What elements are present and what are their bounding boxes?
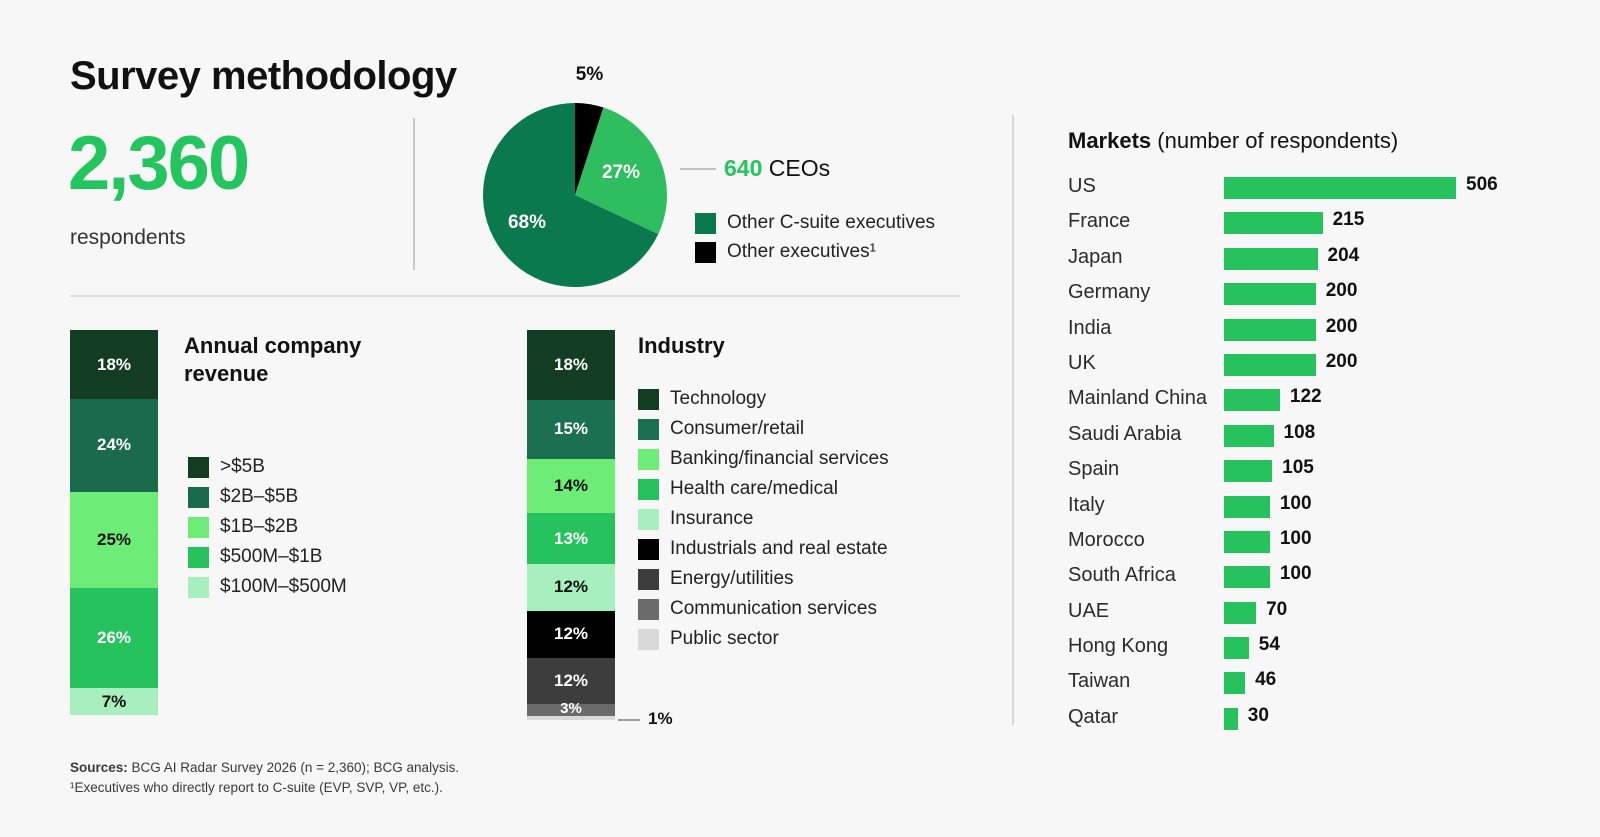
legend-item: Technology [638, 388, 889, 410]
market-bar [1224, 460, 1272, 482]
ceo-callout-value: 640 [724, 155, 762, 181]
market-value: 200 [1326, 316, 1358, 338]
market-name: Mainland China [1068, 387, 1207, 410]
revenue-title: Annual company revenue [184, 332, 404, 387]
industry-legend: TechnologyConsumer/retailBanking/financi… [638, 388, 889, 658]
market-row: Morocco100 [1068, 526, 1568, 561]
market-name: India [1068, 317, 1111, 340]
market-value: 46 [1255, 669, 1276, 691]
market-bar [1224, 354, 1316, 376]
legend-label: Health care/medical [670, 478, 838, 500]
pie-legend-item: Other executives¹ [695, 241, 935, 263]
sources-label: Sources: [70, 760, 128, 775]
markets-title-rest: (number of respondents) [1151, 128, 1398, 153]
legend-swatch-icon [638, 629, 659, 650]
stack-segment-label: 15% [554, 419, 588, 439]
respondent-count-label: respondents [70, 226, 186, 250]
markets-title-bold: Markets [1068, 128, 1151, 153]
pie-slice-label-2: 68% [508, 212, 546, 234]
market-row: Japan204 [1068, 243, 1568, 278]
market-bar [1224, 212, 1323, 234]
market-value: 100 [1280, 563, 1312, 585]
market-name: Qatar [1068, 706, 1118, 729]
pie-legend-label: Other executives¹ [727, 241, 876, 263]
market-row: Spain105 [1068, 455, 1568, 490]
market-bar [1224, 672, 1245, 694]
revenue-stacked-bar: 18%24%25%26%7% [70, 330, 158, 715]
market-name: Italy [1068, 494, 1105, 517]
respondent-count: 2,360 [68, 126, 248, 202]
ceo-callout-line [680, 168, 716, 170]
pie-legend: Other C-suite executivesOther executives… [695, 212, 935, 270]
market-row: France215 [1068, 207, 1568, 242]
market-value: 506 [1466, 174, 1498, 196]
market-row: Qatar30 [1068, 703, 1568, 738]
legend-label: Industrials and real estate [670, 538, 888, 560]
sources-line: Sources: BCG AI Radar Survey 2026 (n = 2… [70, 758, 459, 778]
legend-item: $500M–$1B [188, 546, 347, 568]
stack-segment-label: 24% [97, 435, 131, 455]
stack-segment-label: 18% [97, 355, 131, 375]
legend-label: Consumer/retail [670, 418, 804, 440]
legend-swatch-icon [638, 569, 659, 590]
legend-item: Banking/financial services [638, 448, 889, 470]
infographic-page: Survey methodology 2,360 respondents 5%2… [0, 0, 1600, 837]
divider-horizontal [70, 295, 960, 297]
market-bar [1224, 425, 1274, 447]
legend-label: $500M–$1B [220, 546, 322, 568]
market-value: 122 [1290, 386, 1322, 408]
market-value: 200 [1326, 351, 1358, 373]
public-sector-callout-line [618, 719, 640, 721]
market-name: Hong Kong [1068, 635, 1168, 658]
market-value: 215 [1333, 209, 1365, 231]
legend-item: Industrials and real estate [638, 538, 889, 560]
market-row: UAE70 [1068, 597, 1568, 632]
stack-segment: 14% [527, 459, 615, 514]
sources-text: BCG AI Radar Survey 2026 (n = 2,360); BC… [128, 760, 459, 775]
market-name: US [1068, 175, 1096, 198]
market-bar [1224, 248, 1318, 270]
market-value: 100 [1280, 528, 1312, 550]
stack-segment-label: 12% [554, 624, 588, 644]
legend-label: Banking/financial services [670, 448, 889, 470]
stack-segment: 3% [527, 704, 615, 716]
ceo-callout-label: CEOs [762, 155, 830, 181]
market-name: Taiwan [1068, 670, 1130, 693]
legend-item: Energy/utilities [638, 568, 889, 590]
legend-label: Insurance [670, 508, 753, 530]
stack-segment: 18% [527, 330, 615, 400]
revenue-title-line2: revenue [184, 361, 268, 386]
market-value: 204 [1328, 245, 1360, 267]
legend-label: $1B–$2B [220, 516, 298, 538]
legend-swatch-icon [695, 242, 716, 263]
market-value: 200 [1326, 280, 1358, 302]
market-name: Germany [1068, 281, 1150, 304]
market-bar [1224, 283, 1316, 305]
market-bar [1224, 637, 1249, 659]
legend-label: $100M–$500M [220, 576, 347, 598]
market-name: Saudi Arabia [1068, 423, 1181, 446]
legend-item: $1B–$2B [188, 516, 347, 538]
market-name: Morocco [1068, 529, 1145, 552]
legend-item: Health care/medical [638, 478, 889, 500]
market-row: Germany200 [1068, 278, 1568, 313]
footnote-1: ¹Executives who directly report to C-sui… [70, 778, 459, 798]
stack-segment: 12% [527, 611, 615, 658]
pie-slice-label-0: 5% [576, 64, 603, 86]
stack-segment-label: 25% [97, 530, 131, 550]
market-bar [1224, 319, 1316, 341]
legend-swatch-icon [188, 547, 209, 568]
market-value: 108 [1284, 422, 1316, 444]
stack-segment: 18% [70, 330, 158, 399]
market-value: 70 [1266, 599, 1287, 621]
legend-item: Public sector [638, 628, 889, 650]
stack-segment-label: 3% [560, 700, 582, 717]
legend-item: Communication services [638, 598, 889, 620]
legend-item: Consumer/retail [638, 418, 889, 440]
stack-segment: 26% [70, 588, 158, 688]
stack-segment-label: 18% [554, 355, 588, 375]
market-bar [1224, 708, 1238, 730]
market-value: 100 [1280, 493, 1312, 515]
market-name: Spain [1068, 458, 1119, 481]
market-row: South Africa100 [1068, 561, 1568, 596]
revenue-title-line1: Annual company [184, 333, 361, 358]
legend-swatch-icon [188, 577, 209, 598]
market-value: 30 [1248, 705, 1269, 727]
market-row: Hong Kong54 [1068, 632, 1568, 667]
legend-item: Insurance [638, 508, 889, 530]
legend-swatch-icon [695, 213, 716, 234]
legend-swatch-icon [188, 487, 209, 508]
pie-svg [483, 103, 667, 287]
market-name: Japan [1068, 246, 1123, 269]
stack-segment-label: 7% [102, 692, 127, 712]
divider-vertical-left [413, 118, 415, 270]
sources-footnote: Sources: BCG AI Radar Survey 2026 (n = 2… [70, 758, 459, 799]
industry-stacked-bar: 18%15%14%13%12%12%12%3% [527, 330, 615, 720]
legend-label: Energy/utilities [670, 568, 794, 590]
market-value: 54 [1259, 634, 1280, 656]
market-bar [1224, 496, 1270, 518]
legend-swatch-icon [638, 479, 659, 500]
stack-segment-label: 13% [554, 529, 588, 549]
stack-segment: 15% [527, 400, 615, 459]
legend-label: $2B–$5B [220, 486, 298, 508]
legend-label: Technology [670, 388, 766, 410]
divider-vertical-right [1012, 115, 1014, 725]
market-value: 105 [1282, 457, 1314, 479]
stack-segment: 25% [70, 492, 158, 588]
pie-slice-label-1: 27% [602, 162, 640, 184]
market-row: Mainland China122 [1068, 384, 1568, 419]
market-bar [1224, 531, 1270, 553]
pie-legend-label: Other C-suite executives [727, 212, 935, 234]
stack-segment-label: 14% [554, 476, 588, 496]
market-name: UK [1068, 352, 1096, 375]
stack-segment: 12% [527, 564, 615, 611]
stack-segment [527, 716, 615, 720]
legend-item: $2B–$5B [188, 486, 347, 508]
legend-item: >$5B [188, 456, 347, 478]
legend-swatch-icon [638, 389, 659, 410]
legend-swatch-icon [638, 509, 659, 530]
market-bar [1224, 566, 1270, 588]
stack-segment-label: 12% [554, 577, 588, 597]
legend-swatch-icon [638, 419, 659, 440]
markets-title: Markets (number of respondents) [1068, 128, 1398, 154]
stack-segment-label: 12% [554, 671, 588, 691]
role-pie-chart: 5%27%68% [483, 103, 667, 287]
market-row: US506 [1068, 172, 1568, 207]
industry-title: Industry [638, 332, 725, 360]
legend-swatch-icon [638, 599, 659, 620]
market-bar [1224, 602, 1256, 624]
stack-segment: 12% [527, 658, 615, 705]
legend-swatch-icon [188, 457, 209, 478]
market-row: UK200 [1068, 349, 1568, 384]
legend-item: $100M–$500M [188, 576, 347, 598]
market-bar [1224, 389, 1280, 411]
public-sector-callout-label: 1% [648, 709, 673, 729]
stack-segment: 24% [70, 399, 158, 491]
legend-swatch-icon [638, 449, 659, 470]
page-title: Survey methodology [70, 54, 457, 99]
market-name: France [1068, 210, 1130, 233]
markets-bar-chart: US506France215Japan204Germany200India200… [1068, 172, 1568, 738]
pie-legend-item: Other C-suite executives [695, 212, 935, 234]
market-name: South Africa [1068, 564, 1176, 587]
legend-label: >$5B [220, 456, 265, 478]
market-bar [1224, 177, 1456, 199]
market-row: Saudi Arabia108 [1068, 420, 1568, 455]
market-row: India200 [1068, 314, 1568, 349]
market-row: Italy100 [1068, 491, 1568, 526]
stack-segment: 7% [70, 688, 158, 715]
legend-label: Communication services [670, 598, 877, 620]
revenue-legend: >$5B$2B–$5B$1B–$2B$500M–$1B$100M–$500M [188, 456, 347, 606]
market-name: UAE [1068, 600, 1109, 623]
legend-label: Public sector [670, 628, 779, 650]
ceo-callout: 640 CEOs [724, 155, 830, 182]
legend-swatch-icon [638, 539, 659, 560]
legend-swatch-icon [188, 517, 209, 538]
stack-segment: 13% [527, 513, 615, 564]
stack-segment-label: 26% [97, 628, 131, 648]
market-row: Taiwan46 [1068, 667, 1568, 702]
